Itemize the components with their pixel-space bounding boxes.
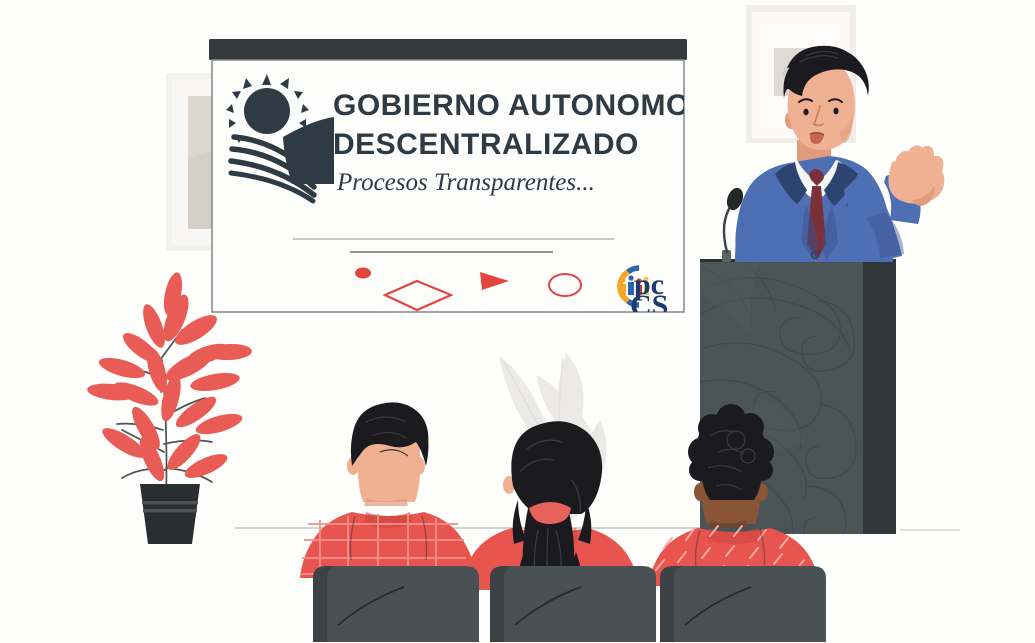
podium-side (863, 259, 896, 534)
presenter-eye-right (833, 108, 838, 115)
plant-pot (140, 484, 200, 544)
chair-right (660, 566, 826, 642)
projection-screen: GOBIERNO AUTONOMO DESCENTRALIZADO Proces… (209, 39, 690, 322)
presenter-eye-left (803, 109, 808, 116)
scene-svg: GOBIERNO AUTONOMO DESCENTRALIZADO Proces… (0, 0, 1035, 643)
slide-tagline: Procesos Transparentes... (336, 169, 595, 196)
screen-top-bar (209, 39, 687, 60)
illustration-stage: GOBIERNO AUTONOMO DESCENTRALIZADO Proces… (0, 0, 1035, 643)
slide-title-line-2: DESCENTRALIZADO (333, 128, 639, 161)
red-dot-shape (355, 268, 371, 279)
audience-chairs (313, 566, 826, 642)
chair-left (313, 566, 479, 642)
slide-title-line-1: GOBIERNO AUTONOMO (333, 89, 690, 122)
logo-sun-disc (244, 88, 290, 134)
chair-center (490, 566, 656, 642)
